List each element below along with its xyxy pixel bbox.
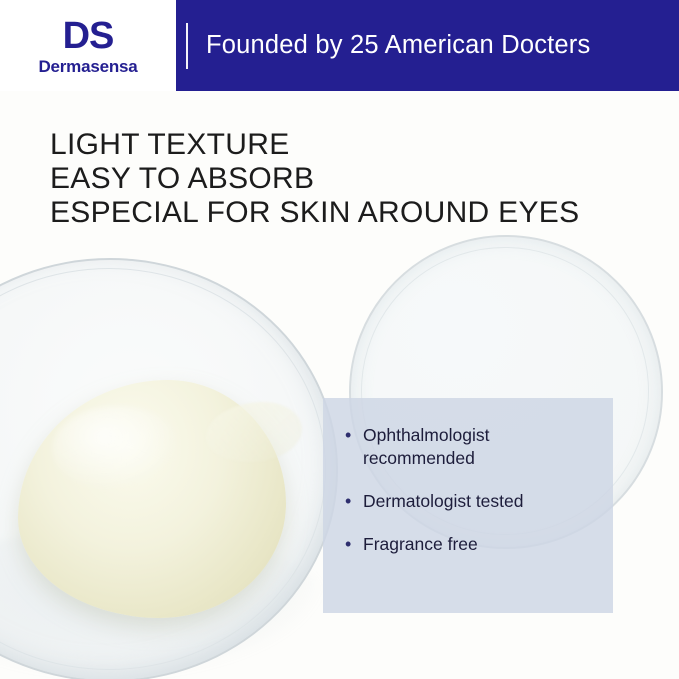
bullet-icon: •	[345, 424, 363, 446]
top-banner: DS Dermasensa Founded by 25 American Doc…	[0, 0, 679, 91]
benefit-label: Dermatologist tested	[363, 490, 524, 513]
headline-line-1: LIGHT TEXTURE	[50, 128, 579, 162]
logo-monogram: DS	[63, 17, 114, 55]
brand-logo: DS Dermasensa	[0, 0, 176, 91]
benefit-label: Fragrance free	[363, 533, 478, 556]
benefit-item: • Ophthalmologist recommended	[345, 424, 591, 470]
headline-line-3: ESPECIAL FOR SKIN AROUND EYES	[50, 196, 579, 230]
vertical-divider	[186, 23, 188, 69]
banner-tagline: Founded by 25 American Docters	[206, 31, 590, 60]
headline-block: LIGHT TEXTURE EASY TO ABSORB ESPECIAL FO…	[50, 128, 579, 230]
product-infographic: DS Dermasensa Founded by 25 American Doc…	[0, 0, 679, 679]
logo-wordmark: Dermasensa	[38, 57, 137, 77]
benefits-card: • Ophthalmologist recommended • Dermatol…	[323, 398, 613, 613]
benefit-item: • Fragrance free	[345, 533, 591, 556]
benefit-label: Ophthalmologist recommended	[363, 424, 591, 470]
bullet-icon: •	[345, 533, 363, 555]
benefit-item: • Dermatologist tested	[345, 490, 591, 513]
headline-line-2: EASY TO ABSORB	[50, 162, 579, 196]
cream-highlight	[52, 406, 182, 492]
bullet-icon: •	[345, 490, 363, 512]
